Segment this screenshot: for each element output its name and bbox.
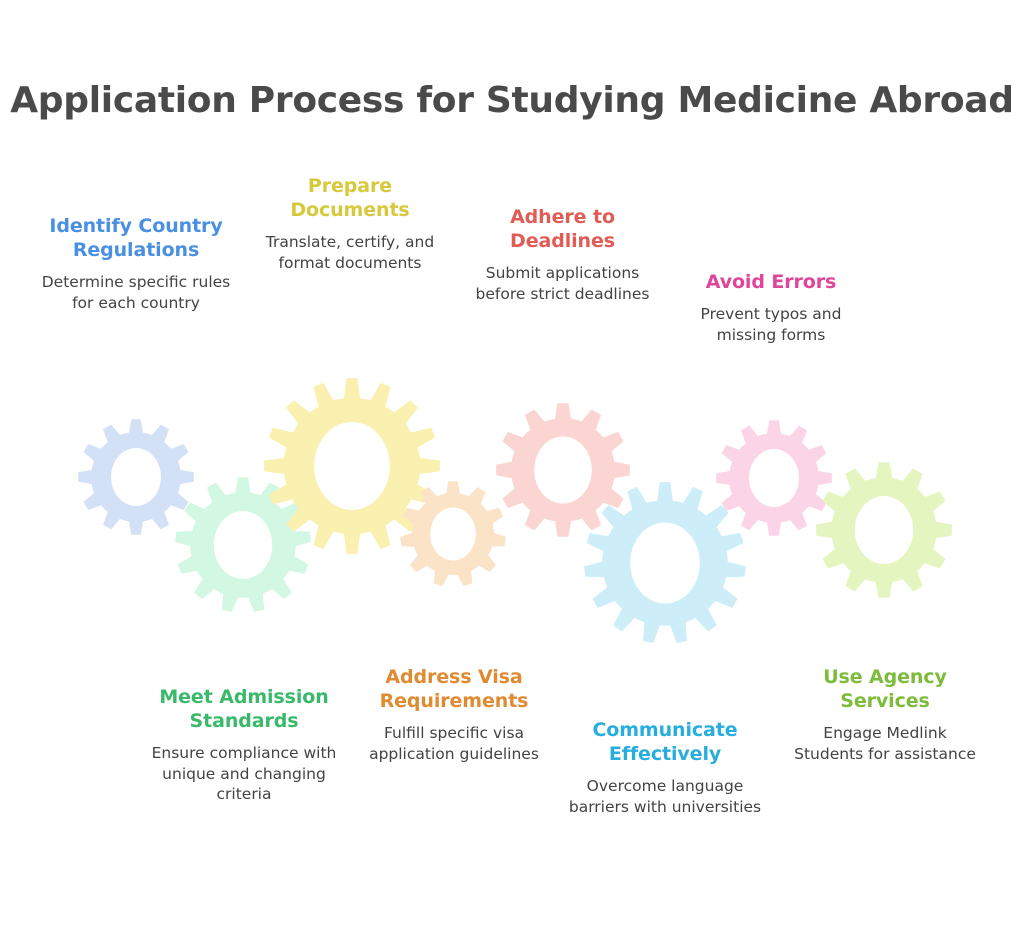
step-description: Submit applications before strict deadli… xyxy=(465,263,660,304)
gear-use-agency-services xyxy=(816,462,952,598)
step-use-agency-services: Use Agency Services Engage Medlink Stude… xyxy=(790,665,980,764)
step-heading: Adhere to Deadlines xyxy=(465,205,660,253)
step-heading: Address Visa Requirements xyxy=(357,665,551,713)
gear-address-visa-requirements xyxy=(400,481,506,586)
step-description: Determine specific rules for each countr… xyxy=(40,272,232,313)
step-heading: Avoid Errors xyxy=(680,270,862,294)
gear-meet-admission-standards xyxy=(175,477,311,612)
step-description: Translate, certify, and format documents xyxy=(253,232,447,273)
step-heading: Prepare Documents xyxy=(253,174,447,222)
step-communicate-effectively: Communicate Effectively Overcome languag… xyxy=(568,718,762,817)
gear-identify-country-regulations xyxy=(78,419,194,535)
step-prepare-documents: Prepare Documents Translate, certify, an… xyxy=(253,174,447,273)
step-address-visa-requirements: Address Visa Requirements Fulfill specif… xyxy=(357,665,551,764)
gear-adhere-to-deadlines xyxy=(496,403,630,537)
step-heading: Use Agency Services xyxy=(790,665,980,713)
step-heading: Meet Admission Standards xyxy=(148,685,340,733)
page-title: Application Process for Studying Medicin… xyxy=(0,80,1024,121)
step-avoid-errors: Avoid Errors Prevent typos and missing f… xyxy=(680,270,862,345)
infographic-canvas: Application Process for Studying Medicin… xyxy=(0,0,1024,930)
step-description: Overcome language barriers with universi… xyxy=(568,776,762,817)
step-description: Prevent typos and missing forms xyxy=(680,304,862,345)
step-heading: Communicate Effectively xyxy=(568,718,762,766)
gear-prepare-documents xyxy=(264,378,440,554)
step-description: Ensure compliance with unique and changi… xyxy=(148,743,340,805)
step-description: Fulfill specific visa application guidel… xyxy=(357,723,551,764)
step-identify-country-regulations: Identify Country Regulations Determine s… xyxy=(40,214,232,313)
step-heading: Identify Country Regulations xyxy=(40,214,232,262)
step-meet-admission-standards: Meet Admission Standards Ensure complian… xyxy=(148,685,340,805)
gear-communicate-effectively xyxy=(584,482,746,643)
step-description: Engage Medlink Students for assistance xyxy=(790,723,980,764)
gear-avoid-errors xyxy=(716,420,832,536)
step-adhere-to-deadlines: Adhere to Deadlines Submit applications … xyxy=(465,205,660,304)
